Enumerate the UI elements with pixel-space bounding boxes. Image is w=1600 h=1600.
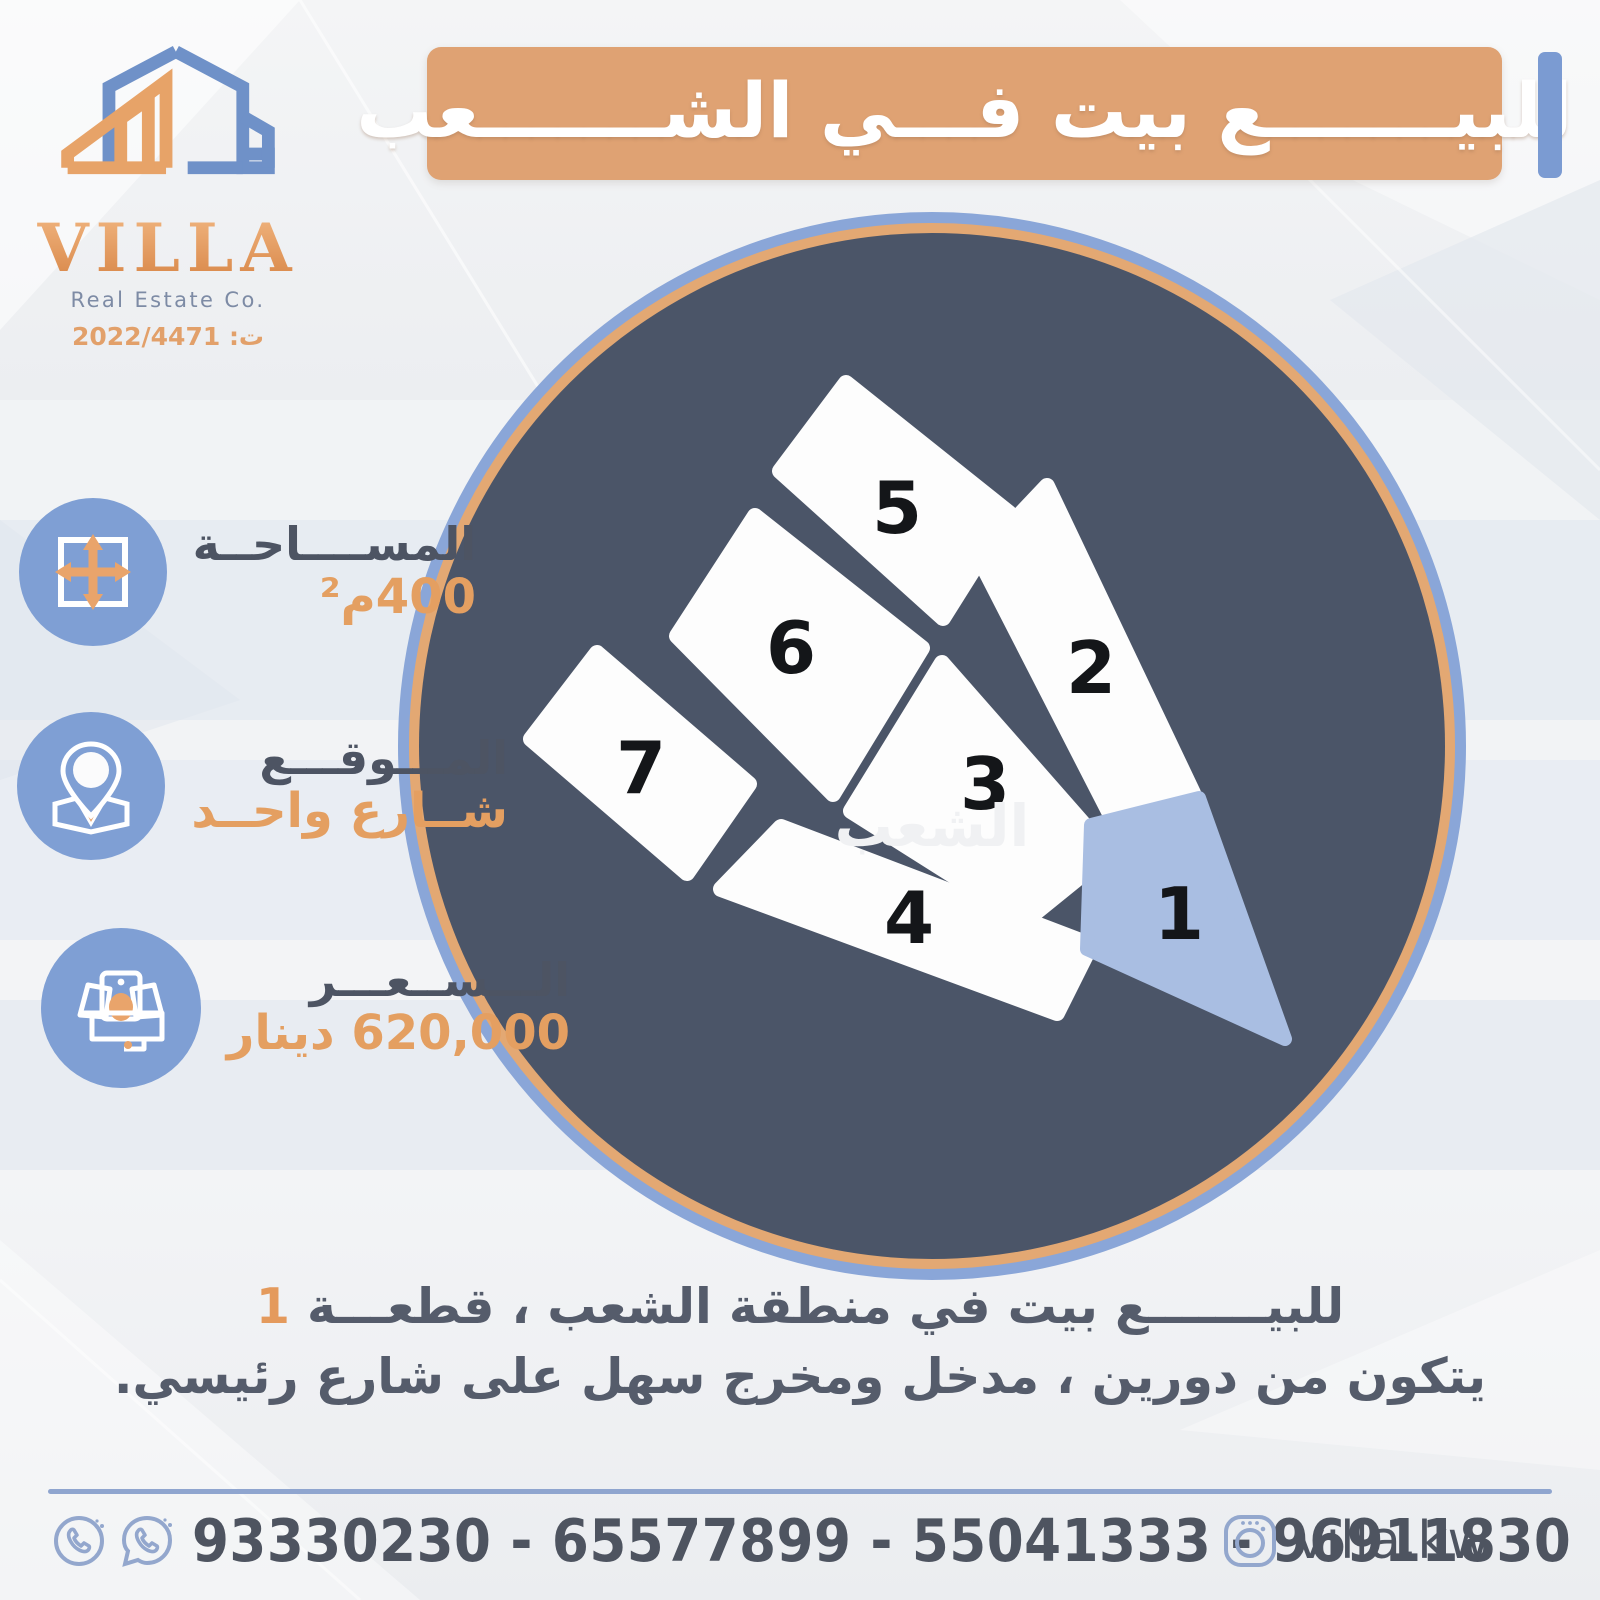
info-row-location: المـــوقـــع شــارع واحــد [17, 712, 508, 860]
region-label: الشعب [398, 792, 1466, 860]
header-accent-bar [1538, 52, 1562, 178]
footer-social-handle: villa.kw [1295, 1511, 1490, 1571]
description-line-1-text: للبيـــــــع بيت في منطقة الشعب ، قطعـــ… [290, 1278, 1344, 1335]
brand-license-number: ت: 2022/4471 [34, 322, 302, 351]
brand-wordmark: VILLA [34, 217, 302, 280]
footer-divider [48, 1489, 1552, 1494]
info-value-location: شــارع واحــد [191, 784, 508, 839]
wallet-cash-icon [68, 955, 174, 1061]
two-buildings-outline-icon [49, 30, 287, 215]
info-icon-area[interactable] [19, 498, 167, 646]
phone-circle-icon[interactable] [52, 1512, 110, 1570]
description-line-2: يتكون من دورين ، مدخل ومخرج سهل على شارع… [0, 1342, 1600, 1412]
footer-social-group: villa.kw [1219, 1510, 1490, 1572]
map-pin-icon [41, 736, 141, 836]
parcel-label-5: 5 [872, 466, 922, 550]
info-row-price: الـــســعـــر 620,000 دينار [41, 928, 570, 1088]
info-row-area: المســــاحــة 400م² [19, 498, 476, 646]
info-label-location: المـــوقـــع [191, 733, 508, 785]
header-banner: للبيـــــــع بيت فـــي الشـــــــعب [427, 47, 1502, 180]
page-title: للبيـــــــع بيت فـــي الشـــــــعب [356, 73, 1572, 149]
info-value-area: 400م² [193, 570, 476, 625]
brand-subtitle: Real Estate Co. [34, 288, 302, 312]
parcel-label-6: 6 [766, 606, 816, 690]
description-block: للبيـــــــع بيت في منطقة الشعب ، قطعـــ… [0, 1272, 1600, 1411]
info-value-price: 620,000 دينار [227, 1006, 570, 1061]
resize-square-arrows-icon [47, 526, 139, 618]
whatsapp-icon[interactable] [118, 1512, 176, 1570]
info-icon-location[interactable] [17, 712, 165, 860]
footer: 93330230 - 65577899 - 55041333 - 9691183… [0, 1500, 1600, 1596]
parcel-label-4: 4 [884, 876, 934, 960]
parcel-label-2: 2 [1066, 626, 1116, 710]
parcel-map: 6 5 2 3 7 [419, 233, 1445, 1259]
info-icon-price[interactable] [41, 928, 201, 1088]
instagram-icon[interactable] [1219, 1510, 1281, 1572]
info-label-area: المســــاحــة [193, 519, 476, 571]
description-line-1: للبيـــــــع بيت في منطقة الشعب ، قطعـــ… [0, 1272, 1600, 1342]
brand-logo: VILLA Real Estate Co. ت: 2022/4471 [34, 30, 302, 351]
description-parcel-highlight: 1 [256, 1278, 290, 1335]
info-label-price: الـــســعـــر [227, 955, 570, 1007]
parcel-label-1: 1 [1154, 872, 1204, 956]
parcel-plan-circle: 6 5 2 3 7 [398, 212, 1466, 1280]
